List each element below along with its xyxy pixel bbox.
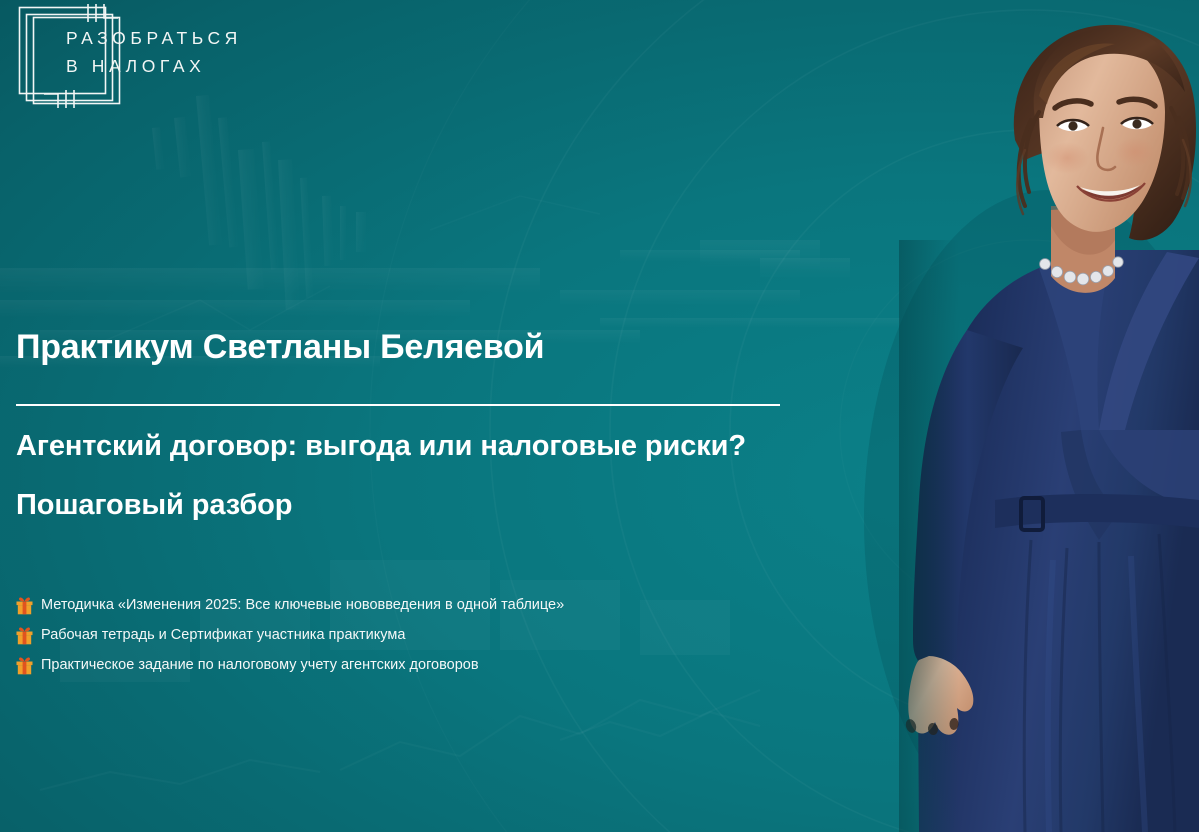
list-item-label: Рабочая тетрадь и Сертификат участника п… [41,624,405,646]
gift-icon [16,625,33,645]
bonus-list: Методичка «Изменения 2025: Все ключевые … [16,594,564,684]
headline-line-1: Агентский договор: выгода или налоговые … [16,427,746,465]
list-item-label: Практическое задание по налоговому учету… [41,654,479,676]
list-item: Методичка «Изменения 2025: Все ключевые … [16,594,564,616]
list-item-label: Методичка «Изменения 2025: Все ключевые … [41,594,564,616]
title-divider [16,404,780,406]
gift-icon [16,595,33,615]
hero-content: Практикум Светланы Беляевой Агентский до… [16,0,846,832]
page-title: Практикум Светланы Беляевой [16,328,544,367]
list-item: Рабочая тетрадь и Сертификат участника п… [16,624,564,646]
promo-banner: РАЗОБРАТЬСЯ В НАЛОГАХ [0,0,1199,832]
gift-icon [16,655,33,675]
list-item: Практическое задание по налоговому учету… [16,654,564,676]
headline-line-2: Пошаговый разбор [16,486,292,524]
